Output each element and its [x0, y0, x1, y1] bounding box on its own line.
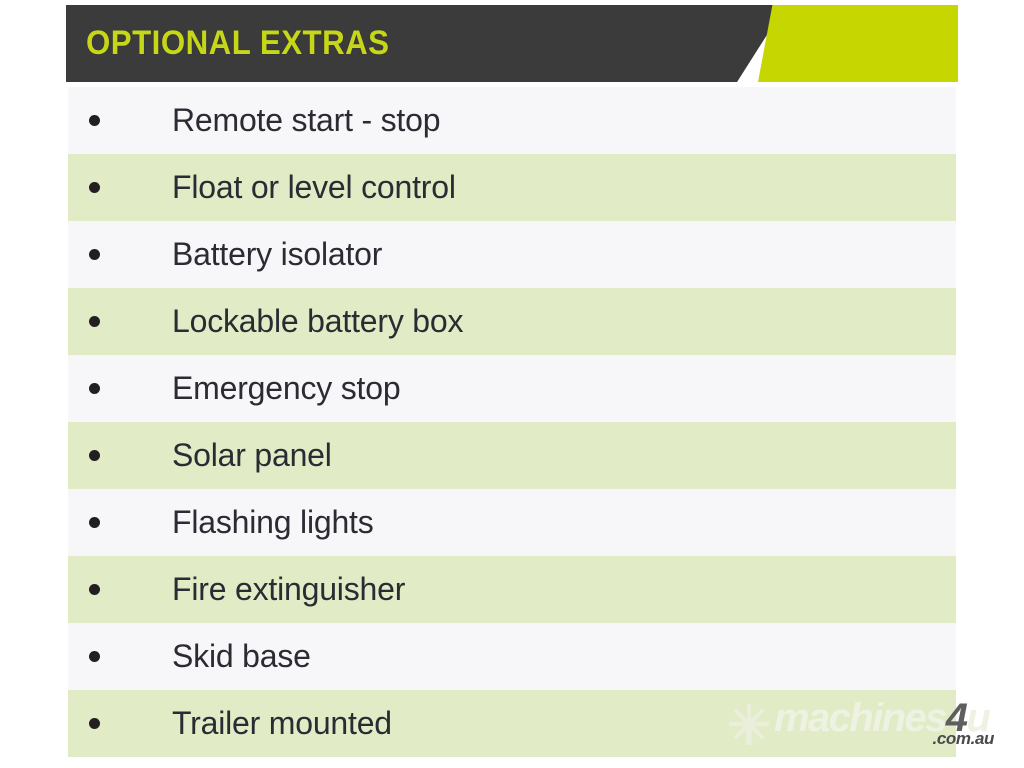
list-item: Flashing lights — [68, 489, 956, 556]
bullet-dot-icon — [89, 182, 100, 193]
bullet-dot-icon — [89, 316, 100, 327]
bullet-dot-icon — [89, 517, 100, 528]
list-item-label: Fire extinguisher — [172, 571, 405, 608]
list-item-label: Skid base — [172, 638, 311, 675]
page-title: OPTIONAL EXTRAS — [86, 5, 390, 82]
optional-extras-page: OPTIONAL EXTRAS Remote start - stop Floa… — [0, 0, 1024, 768]
list-item-label: Float or level control — [172, 169, 456, 206]
list-item: Fire extinguisher — [68, 556, 956, 623]
list-item: Trailer mounted — [68, 690, 956, 757]
bullet-dot-icon — [89, 383, 100, 394]
list-item: Solar panel — [68, 422, 956, 489]
list-item: Float or level control — [68, 154, 956, 221]
list-item-label: Flashing lights — [172, 504, 374, 541]
bullet-dot-icon — [89, 249, 100, 260]
list-item-label: Lockable battery box — [172, 303, 463, 340]
list-item-label: Solar panel — [172, 437, 332, 474]
list-item-label: Remote start - stop — [172, 102, 440, 139]
list-item: Emergency stop — [68, 355, 956, 422]
list-item-label: Emergency stop — [172, 370, 400, 407]
bullet-dot-icon — [89, 450, 100, 461]
header-banner: OPTIONAL EXTRAS — [0, 5, 1024, 82]
list-item: Lockable battery box — [68, 288, 956, 355]
list-item: Skid base — [68, 623, 956, 690]
bullet-dot-icon — [89, 651, 100, 662]
bullet-dot-icon — [89, 718, 100, 729]
bullet-dot-icon — [89, 584, 100, 595]
list-item: Battery isolator — [68, 221, 956, 288]
optional-extras-list: Remote start - stop Float or level contr… — [68, 87, 956, 757]
list-item-label: Trailer mounted — [172, 705, 392, 742]
wordmark-u: u — [966, 696, 989, 740]
list-item-label: Battery isolator — [172, 236, 382, 273]
list-item: Remote start - stop — [68, 87, 956, 154]
header-accent-shape — [758, 5, 958, 82]
bullet-dot-icon — [89, 115, 100, 126]
